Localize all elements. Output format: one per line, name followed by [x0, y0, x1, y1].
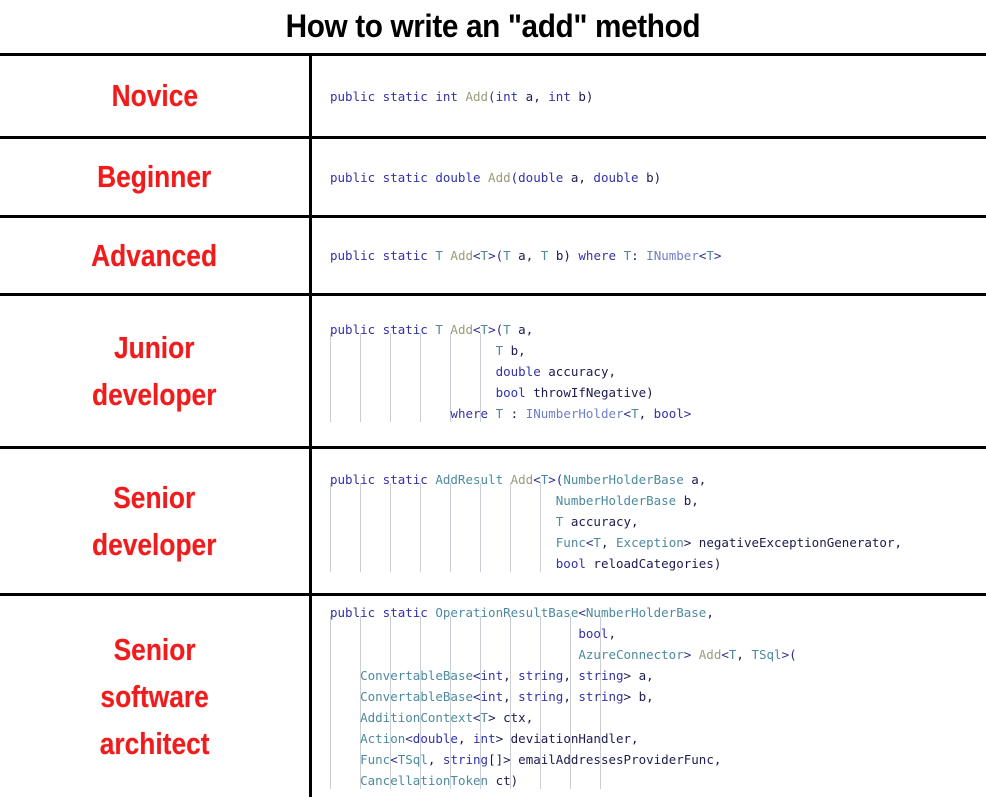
code-line: AzureConnector> Add<T, TSql>(	[330, 644, 797, 665]
level-label-cell: Beginner	[0, 139, 312, 215]
code-token-typ: OperationResultBase	[435, 605, 578, 620]
code-token-mth: Add	[511, 472, 534, 487]
code-token-kw: int	[481, 668, 504, 683]
code-token-id: b,	[676, 493, 699, 508]
code-token-kw: where	[578, 248, 616, 263]
code-token-pn: <	[533, 472, 541, 487]
code-token-id	[330, 514, 556, 529]
code-token-kw: public static int	[330, 89, 465, 104]
code-token-itf: INumberHolder	[526, 406, 624, 421]
code-token-id	[503, 472, 511, 487]
code-token-typ: TSql	[751, 647, 781, 662]
code-token-typ: Func	[360, 752, 390, 767]
code-line: public static int Add(int a, int b)	[330, 86, 593, 107]
code-token-typ: AddResult	[435, 472, 503, 487]
code-token-typ: CancellationToken	[360, 773, 488, 788]
code-line: where T : INumberHolder<T, bool>	[330, 403, 691, 424]
code-token-id: ,	[503, 689, 518, 704]
code-token-id	[330, 689, 360, 704]
code-token-id: a,	[563, 170, 593, 185]
code-token-typ: NumberHolderBase	[586, 605, 706, 620]
code-token-typ: T	[503, 248, 511, 263]
code-token-typ: TSql	[398, 752, 428, 767]
code-token-typ: Action	[360, 731, 405, 746]
code-token-kw: int	[481, 689, 504, 704]
code-token-id: :	[503, 406, 526, 421]
code-token-id: > ctx,	[488, 710, 533, 725]
code-token-kw: bool	[578, 626, 608, 641]
code-token-mth: Add	[450, 322, 473, 337]
code-token-kw: int	[496, 89, 519, 104]
code-token-kw: double	[518, 170, 563, 185]
code-token-pn: >(	[488, 322, 503, 337]
code-token-pn: >(	[548, 472, 563, 487]
code-token-id: b)	[548, 248, 578, 263]
page-title: How to write an "add" method	[286, 8, 701, 45]
code-token-id: ct)	[488, 773, 518, 788]
code-token-pn: <	[405, 731, 413, 746]
code-token-id: a,	[511, 248, 541, 263]
level-label: Advanced	[92, 232, 218, 279]
code-token-typ: T	[481, 322, 489, 337]
code-cell: public static AddResult Add<T>(NumberHol…	[312, 449, 986, 593]
code-token-id	[330, 343, 496, 358]
code-token-pn: >	[714, 248, 722, 263]
level-label-cell: Senior software architect	[0, 596, 312, 797]
code-token-id: ,	[601, 535, 616, 550]
code-token-typ: NumberHolderBase	[563, 472, 683, 487]
code-token-pn: >	[684, 647, 699, 662]
code-token-id	[616, 248, 624, 263]
code-token-kw: bool	[496, 385, 526, 400]
code-block: public static double Add(double a, doubl…	[330, 167, 661, 188]
code-token-id: a,	[511, 322, 534, 337]
code-token-id: ,	[639, 406, 654, 421]
code-token-kw: public static double	[330, 170, 488, 185]
level-label: Beginner	[97, 153, 211, 200]
table-row: Senior software architectpublic static O…	[0, 596, 986, 797]
code-line: ConvertableBase<int, string, string> b,	[330, 686, 797, 707]
code-block: public static OperationResultBase<Number…	[330, 602, 797, 791]
code-token-id: b)	[639, 170, 662, 185]
code-cell: public static T Add<T>(T a, T b) where T…	[312, 218, 986, 293]
code-token-id	[330, 752, 360, 767]
code-token-id	[330, 535, 556, 550]
level-label-cell: Advanced	[0, 218, 312, 293]
code-token-typ: AdditionContext	[360, 710, 473, 725]
levels-table: Novicepublic static int Add(int a, int b…	[0, 53, 986, 797]
code-token-id: ,	[608, 626, 616, 641]
code-line: Func<T, Exception> negativeExceptionGene…	[330, 532, 902, 553]
table-row: Junior developerpublic static T Add<T>(T…	[0, 296, 986, 449]
code-token-typ: NumberHolderBase	[556, 493, 676, 508]
code-token-typ: T	[496, 406, 504, 421]
code-token-mth: Add	[465, 89, 488, 104]
code-token-kw: where	[450, 406, 488, 421]
code-line: public static T Add<T>(T a,	[330, 319, 691, 340]
code-token-id: ,	[458, 731, 473, 746]
code-token-kw: public static	[330, 248, 435, 263]
code-token-id: > a,	[624, 668, 654, 683]
table-row: Beginnerpublic static double Add(double …	[0, 139, 986, 218]
code-line: bool throwIfNegative)	[330, 382, 691, 403]
code-line: double accuracy,	[330, 361, 691, 382]
code-token-typ: T	[503, 322, 511, 337]
code-token-pn: >	[684, 406, 692, 421]
code-cell: public static double Add(double a, doubl…	[312, 139, 986, 215]
code-token-mth: Add	[450, 248, 473, 263]
code-token-pn: <	[473, 668, 481, 683]
code-line: NumberHolderBase b,	[330, 490, 902, 511]
code-token-typ: T	[481, 248, 489, 263]
code-token-mth: Add	[699, 647, 722, 662]
code-line: public static T Add<T>(T a, T b) where T…	[330, 245, 721, 266]
code-token-pn: <	[624, 406, 632, 421]
table-row: Advancedpublic static T Add<T>(T a, T b)…	[0, 218, 986, 296]
code-token-pn: <	[578, 605, 586, 620]
code-token-kw: double	[496, 364, 541, 379]
code-token-kw: string	[578, 668, 623, 683]
code-token-pn: <	[473, 689, 481, 704]
code-token-itf: INumber	[646, 248, 699, 263]
code-token-typ: Func	[556, 535, 586, 550]
code-token-kw: int	[473, 731, 496, 746]
code-token-id	[330, 556, 556, 571]
code-token-id: ,	[503, 668, 518, 683]
code-token-id: a,	[684, 472, 707, 487]
code-cell: public static int Add(int a, int b)	[312, 56, 986, 136]
code-token-id	[330, 406, 450, 421]
code-line: public static AddResult Add<T>(NumberHol…	[330, 469, 902, 490]
code-block: public static T Add<T>(T a, T b) where T…	[330, 245, 721, 266]
code-token-kw: public static	[330, 472, 435, 487]
code-token-mth: Add	[488, 170, 511, 185]
code-token-id	[330, 647, 578, 662]
code-token-id: a,	[518, 89, 548, 104]
code-token-kw: double	[413, 731, 458, 746]
code-token-id: b)	[571, 89, 594, 104]
code-token-id: []> emailAddressesProviderFunc,	[488, 752, 721, 767]
code-token-id: ,	[428, 752, 443, 767]
code-token-pn: <	[473, 248, 481, 263]
table-row: Senior developerpublic static AddResult …	[0, 449, 986, 596]
code-token-id	[330, 626, 578, 641]
code-token-typ: T	[624, 248, 632, 263]
code-token-id: > negativeExceptionGenerator,	[684, 535, 902, 550]
code-token-id	[330, 710, 360, 725]
meme-image: How to write an "add" method Novicepubli…	[0, 0, 986, 773]
level-label-cell: Senior developer	[0, 449, 312, 593]
code-token-pn: <	[473, 322, 481, 337]
code-line: public static double Add(double a, doubl…	[330, 167, 661, 188]
code-token-kw: string	[443, 752, 488, 767]
code-token-id: reloadCategories)	[586, 556, 721, 571]
code-line: T b,	[330, 340, 691, 361]
level-label: Senior developer	[92, 474, 216, 568]
code-token-id	[330, 364, 496, 379]
code-cell: public static T Add<T>(T a, T b, double …	[312, 296, 986, 446]
code-token-pn: (	[488, 89, 496, 104]
code-token-typ: ConvertableBase	[360, 668, 473, 683]
code-line: CancellationToken ct)	[330, 770, 797, 791]
code-token-typ: T	[435, 322, 443, 337]
code-token-pn: <	[721, 647, 729, 662]
code-token-typ: T	[631, 406, 639, 421]
code-token-kw: bool	[556, 556, 586, 571]
code-cell: public static OperationResultBase<Number…	[312, 596, 986, 797]
level-label-cell: Junior developer	[0, 296, 312, 446]
level-label: Novice	[111, 72, 197, 119]
code-token-kw: double	[593, 170, 638, 185]
code-line: bool,	[330, 623, 797, 644]
code-token-id: ,	[563, 668, 578, 683]
code-line: ConvertableBase<int, string, string> a,	[330, 665, 797, 686]
code-token-id	[330, 773, 360, 788]
level-label-cell: Novice	[0, 56, 312, 136]
code-token-id	[330, 668, 360, 683]
code-token-pn: <	[473, 710, 481, 725]
code-block: public static AddResult Add<T>(NumberHol…	[330, 469, 902, 574]
page-title-bar: How to write an "add" method	[0, 0, 986, 53]
code-token-typ: T	[435, 248, 443, 263]
level-label: Senior software architect	[100, 626, 210, 767]
code-token-id	[488, 406, 496, 421]
code-token-id: b,	[503, 343, 526, 358]
code-token-kw: int	[548, 89, 571, 104]
code-token-typ: T	[706, 248, 714, 263]
code-token-kw: string	[518, 689, 563, 704]
code-token-id: :	[631, 248, 646, 263]
code-line: Action<double, int> deviationHandler,	[330, 728, 797, 749]
code-block: public static T Add<T>(T a, T b, double …	[330, 319, 691, 424]
code-token-id: throwIfNegative)	[526, 385, 654, 400]
code-token-id: ,	[706, 605, 714, 620]
table-row: Novicepublic static int Add(int a, int b…	[0, 56, 986, 139]
code-token-id: > deviationHandler,	[496, 731, 639, 746]
code-token-kw: bool	[654, 406, 684, 421]
code-line: T accuracy,	[330, 511, 902, 532]
level-label: Junior developer	[92, 324, 216, 418]
code-token-pn: >(	[488, 248, 503, 263]
code-token-typ: ConvertableBase	[360, 689, 473, 704]
code-token-typ: AzureConnector	[578, 647, 683, 662]
code-token-id: > b,	[624, 689, 654, 704]
code-token-kw: public static	[330, 322, 435, 337]
code-token-kw: string	[518, 668, 563, 683]
code-line: AdditionContext<T> ctx,	[330, 707, 797, 728]
code-token-typ: T	[496, 343, 504, 358]
code-token-typ: Exception	[616, 535, 684, 550]
code-token-id: ,	[563, 689, 578, 704]
code-block: public static int Add(int a, int b)	[330, 86, 593, 107]
code-token-typ: T	[481, 710, 489, 725]
code-token-id	[330, 385, 496, 400]
code-line: bool reloadCategories)	[330, 553, 902, 574]
code-token-id: accuracy,	[563, 514, 638, 529]
code-token-kw: string	[578, 689, 623, 704]
code-line: public static OperationResultBase<Number…	[330, 602, 797, 623]
code-token-pn: <	[390, 752, 398, 767]
code-token-id: accuracy,	[541, 364, 616, 379]
code-token-id	[330, 493, 556, 508]
code-token-id	[330, 731, 360, 746]
code-token-kw: public static	[330, 605, 435, 620]
code-token-id: ,	[736, 647, 751, 662]
code-token-pn: >(	[782, 647, 797, 662]
code-line: Func<TSql, string[]> emailAddressesProvi…	[330, 749, 797, 770]
code-token-typ: T	[593, 535, 601, 550]
